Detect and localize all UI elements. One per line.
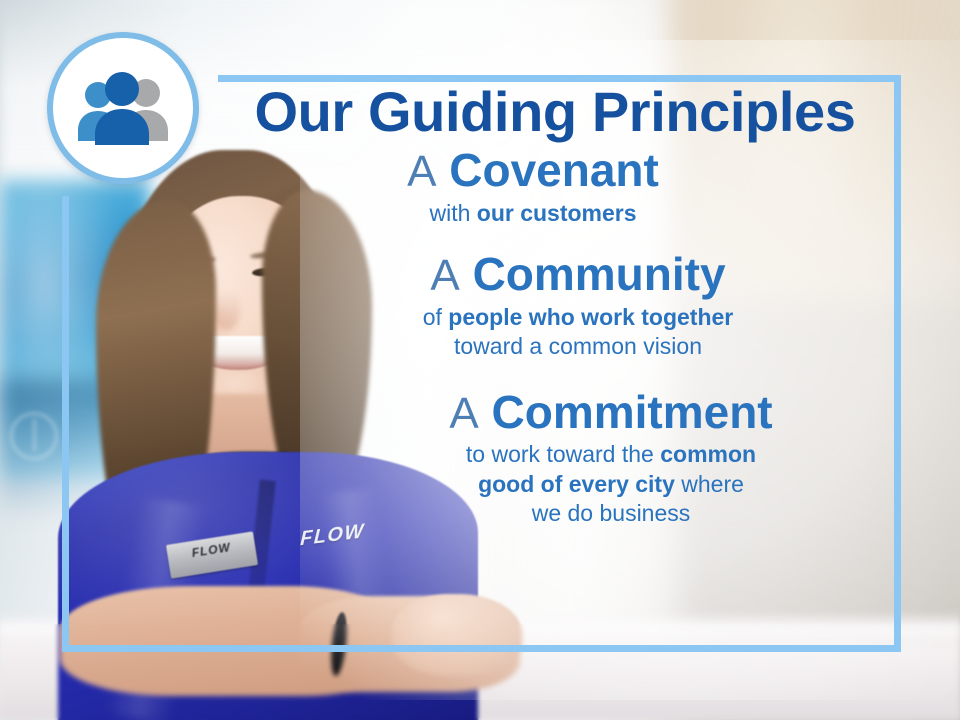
frame-border-bottom [62,645,901,652]
principle-commitment-sub-bold-1: common [660,441,756,467]
principle-community-sub-prefix: of [423,304,449,330]
people-group-icon [71,71,175,145]
principle-community-sub-bold: people who work together [448,304,733,330]
principle-community-subtitle: of people who work together toward a com… [276,303,880,362]
principle-commitment-sub-line-1: to work toward the common [342,440,880,469]
principle-community: A Community of people who work together … [230,250,880,362]
principle-commitment-sub-prefix: to work toward the [466,441,660,467]
principle-commitment-article: A [449,389,478,438]
principle-commitment-word: Commitment [492,386,773,438]
principle-commitment-title: A Commitment [342,388,880,438]
principle-covenant: A Covenant with our customers [230,146,880,228]
principle-commitment-sub-bold-2: good of every city [478,471,675,497]
principle-commitment-subtitle: to work toward the common good of every … [342,440,880,528]
principle-covenant-sub-bold: our customers [477,200,637,226]
principle-commitment-sub-line-2: good of every city where [342,470,880,499]
principle-commitment-sub-line-3: we do business [342,499,880,528]
page-title: Our Guiding Principles [230,84,880,140]
principle-community-sub-line-2: toward a common vision [276,332,880,361]
image-canvas: FLOW FLOW Our [0,0,960,720]
frame-border-left [62,196,69,652]
principle-community-sub-line-1: of people who work together [276,303,880,332]
principle-community-word: Community [473,248,726,300]
principle-covenant-subtitle: with our customers [230,199,836,228]
principle-community-title: A Community [276,250,880,300]
principle-covenant-sub-prefix: with [429,200,476,226]
principle-covenant-article: A [407,147,436,196]
principle-community-article: A [430,251,459,300]
depth-of-field-blur [0,624,960,720]
people-badge [47,32,199,184]
principle-commitment: A Commitment to work toward the common g… [230,388,880,529]
principle-covenant-word: Covenant [449,144,659,196]
frame-border-right [894,75,901,652]
principle-commitment-sub-suffix: where [675,471,744,497]
principle-covenant-title: A Covenant [230,146,836,196]
principles-text-block: Our Guiding Principles A Covenant with o… [230,84,880,529]
